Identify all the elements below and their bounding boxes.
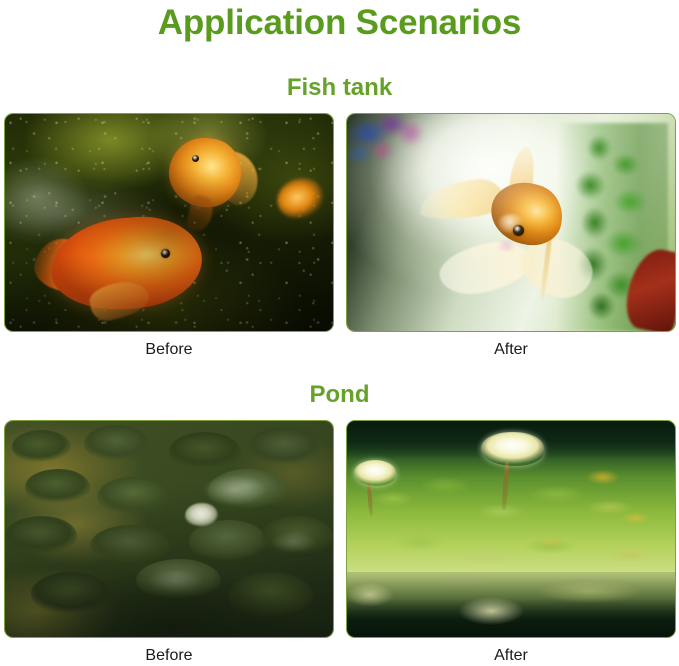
murky-vignette xyxy=(5,114,333,331)
application-scenarios-page: Application Scenarios Fish tank Before xyxy=(0,0,679,664)
section-heading-fish-tank: Fish tank xyxy=(0,74,679,102)
caption-fish-tank-before: Before xyxy=(4,340,334,360)
goldfish-mouth xyxy=(495,240,518,251)
section-heading-pond: Pond xyxy=(0,381,679,409)
goldfish-eye xyxy=(513,225,524,236)
photo-pond-before xyxy=(4,420,334,638)
page-title: Application Scenarios xyxy=(0,2,679,44)
photo-pond-after xyxy=(346,420,676,638)
photo-fish-tank-before xyxy=(4,113,334,332)
pond-vignette xyxy=(5,421,333,637)
caption-fish-tank-after: After xyxy=(346,340,676,360)
white-water-lily xyxy=(481,432,543,467)
caption-pond-before: Before xyxy=(4,646,334,666)
caption-pond-after: After xyxy=(346,646,676,666)
white-water-lily xyxy=(354,460,397,486)
water-reflection xyxy=(347,572,675,637)
photo-fish-tank-after xyxy=(346,113,676,332)
